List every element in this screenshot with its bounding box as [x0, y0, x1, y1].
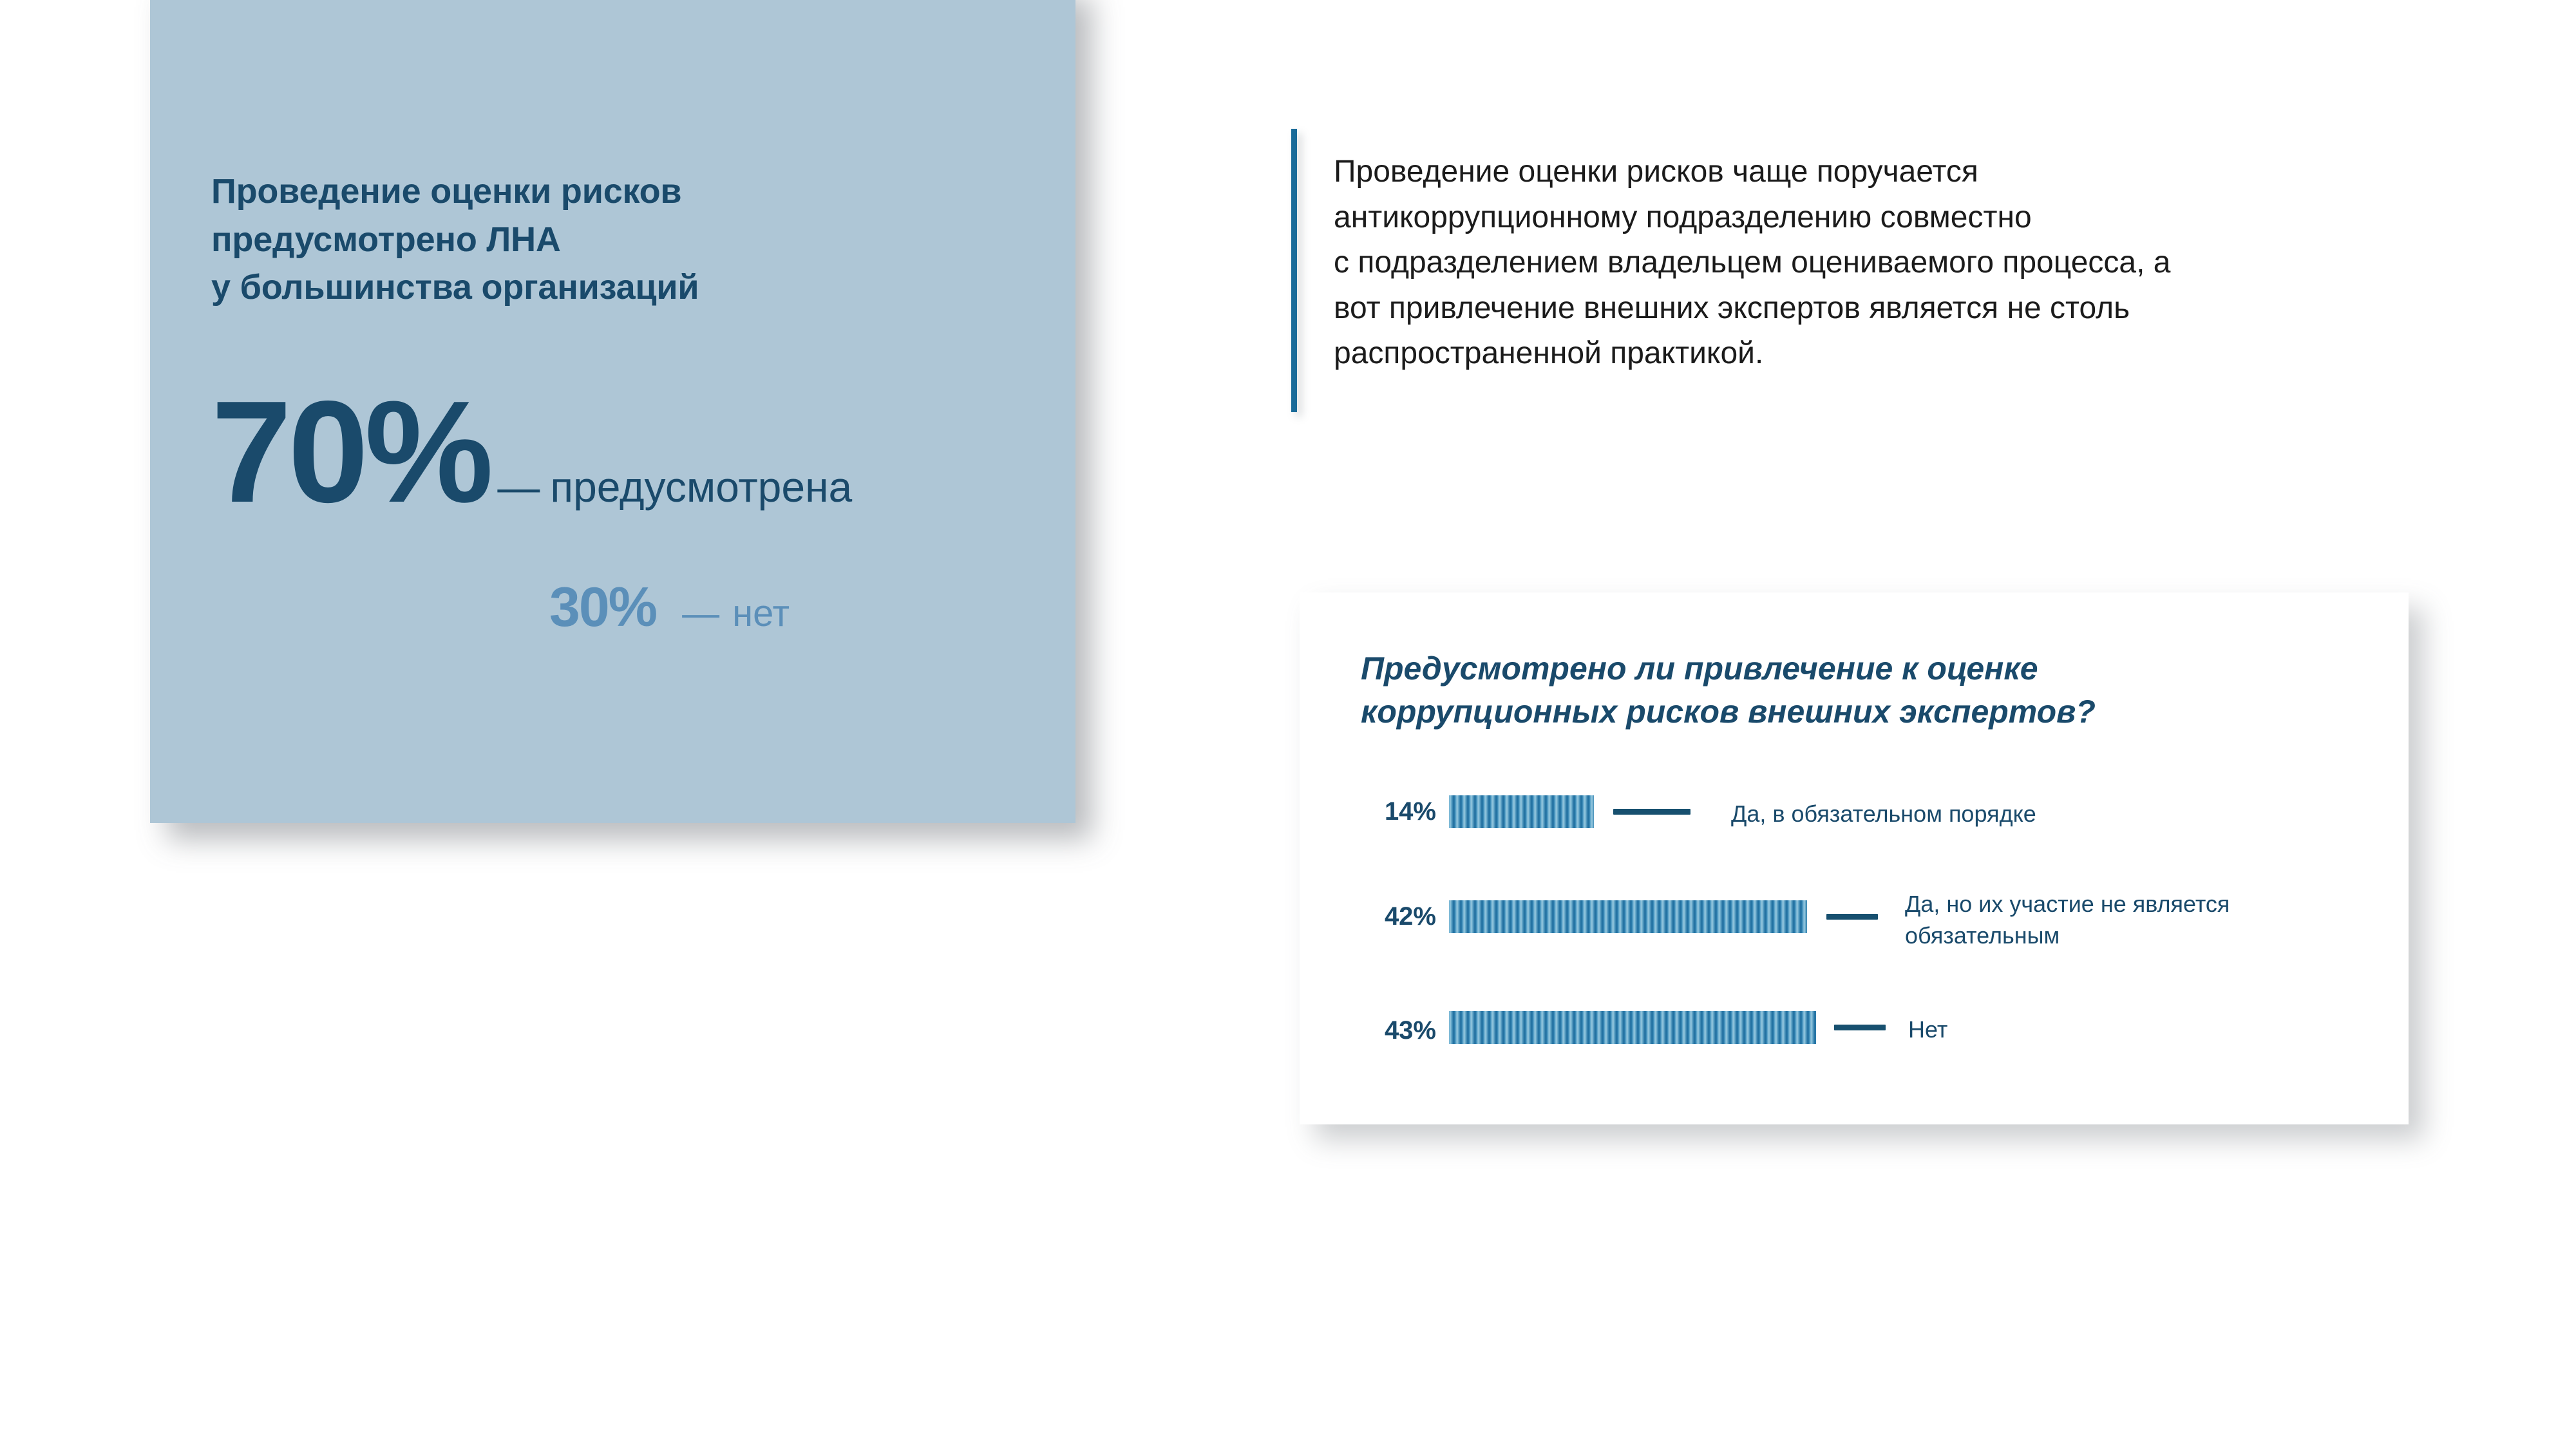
stat-secondary-row: 30% — нет: [211, 580, 984, 635]
intro-paragraph-line-2: антикоррупционному подразделению совмест…: [1334, 195, 2429, 241]
stat-card-heading-line-3: у большинства организаций: [211, 263, 984, 312]
stat-card: Проведение оценки рисков предусмотрено Л…: [150, 0, 1075, 823]
stat-primary-row: 70% — предусмотрена: [211, 383, 1036, 521]
chart-row-bar: [1449, 795, 1594, 828]
chart-card: Предусмотрено ли привлечение к оценке ко…: [1300, 592, 2409, 1124]
chart-row-connector: [1834, 1025, 1886, 1030]
chart-row-connector: [1826, 914, 1878, 920]
chart-row-percent: 14%: [1358, 799, 1436, 824]
chart-row-percent: 42%: [1358, 904, 1436, 929]
stat-card-heading: Проведение оценки рисков предусмотрено Л…: [211, 167, 984, 312]
stat-card-heading-line-2: предусмотрено ЛНА: [211, 216, 984, 264]
intro-paragraph: Проведение оценки рисков чаще поручается…: [1334, 149, 2429, 377]
chart-row-bar: [1449, 900, 1807, 933]
chart-row-label-line: обязательным: [1905, 920, 2394, 952]
stat-secondary-value: 30%: [549, 580, 656, 635]
stat-primary-value: 70%: [211, 383, 489, 521]
chart-title-line-1: Предусмотрено ли привлечение к оценке: [1361, 647, 2320, 690]
intro-paragraph-line-4: вот привлечение внешних экспертов являет…: [1334, 286, 2429, 332]
stat-secondary-dash: —: [682, 595, 719, 632]
chart-row-label-line: Да, в обязательном порядке: [1731, 799, 2349, 830]
intro-accent-bar: [1291, 129, 1297, 412]
chart-row-bar: [1449, 1011, 1816, 1044]
stat-primary-dash: —: [497, 466, 540, 508]
chart-row-label: Да, но их участие не является обязательн…: [1905, 889, 2394, 951]
chart-row-label-line: Да, но их участие не является: [1905, 889, 2394, 920]
chart-row-label-line: Нет: [1908, 1014, 2359, 1046]
intro-paragraph-line-3: с подразделением владельцем оцениваемого…: [1334, 240, 2429, 286]
stat-secondary-label: нет: [732, 595, 790, 632]
chart-row-label: Нет: [1908, 1014, 2359, 1046]
chart-title-line-2: коррупционных рисков внешних экспертов?: [1361, 690, 2320, 734]
chart-title: Предусмотрено ли привлечение к оценке ко…: [1361, 647, 2320, 734]
stat-card-heading-line-1: Проведение оценки рисков: [211, 167, 984, 216]
chart-row-percent: 43%: [1358, 1018, 1436, 1043]
stat-primary-label: предусмотрена: [550, 466, 852, 508]
intro-paragraph-line-5: распространенной практикой.: [1334, 331, 2429, 377]
chart-row-connector: [1613, 809, 1690, 815]
intro-paragraph-line-1: Проведение оценки рисков чаще поручается: [1334, 149, 2429, 195]
chart-row-label: Да, в обязательном порядке: [1731, 799, 2349, 830]
